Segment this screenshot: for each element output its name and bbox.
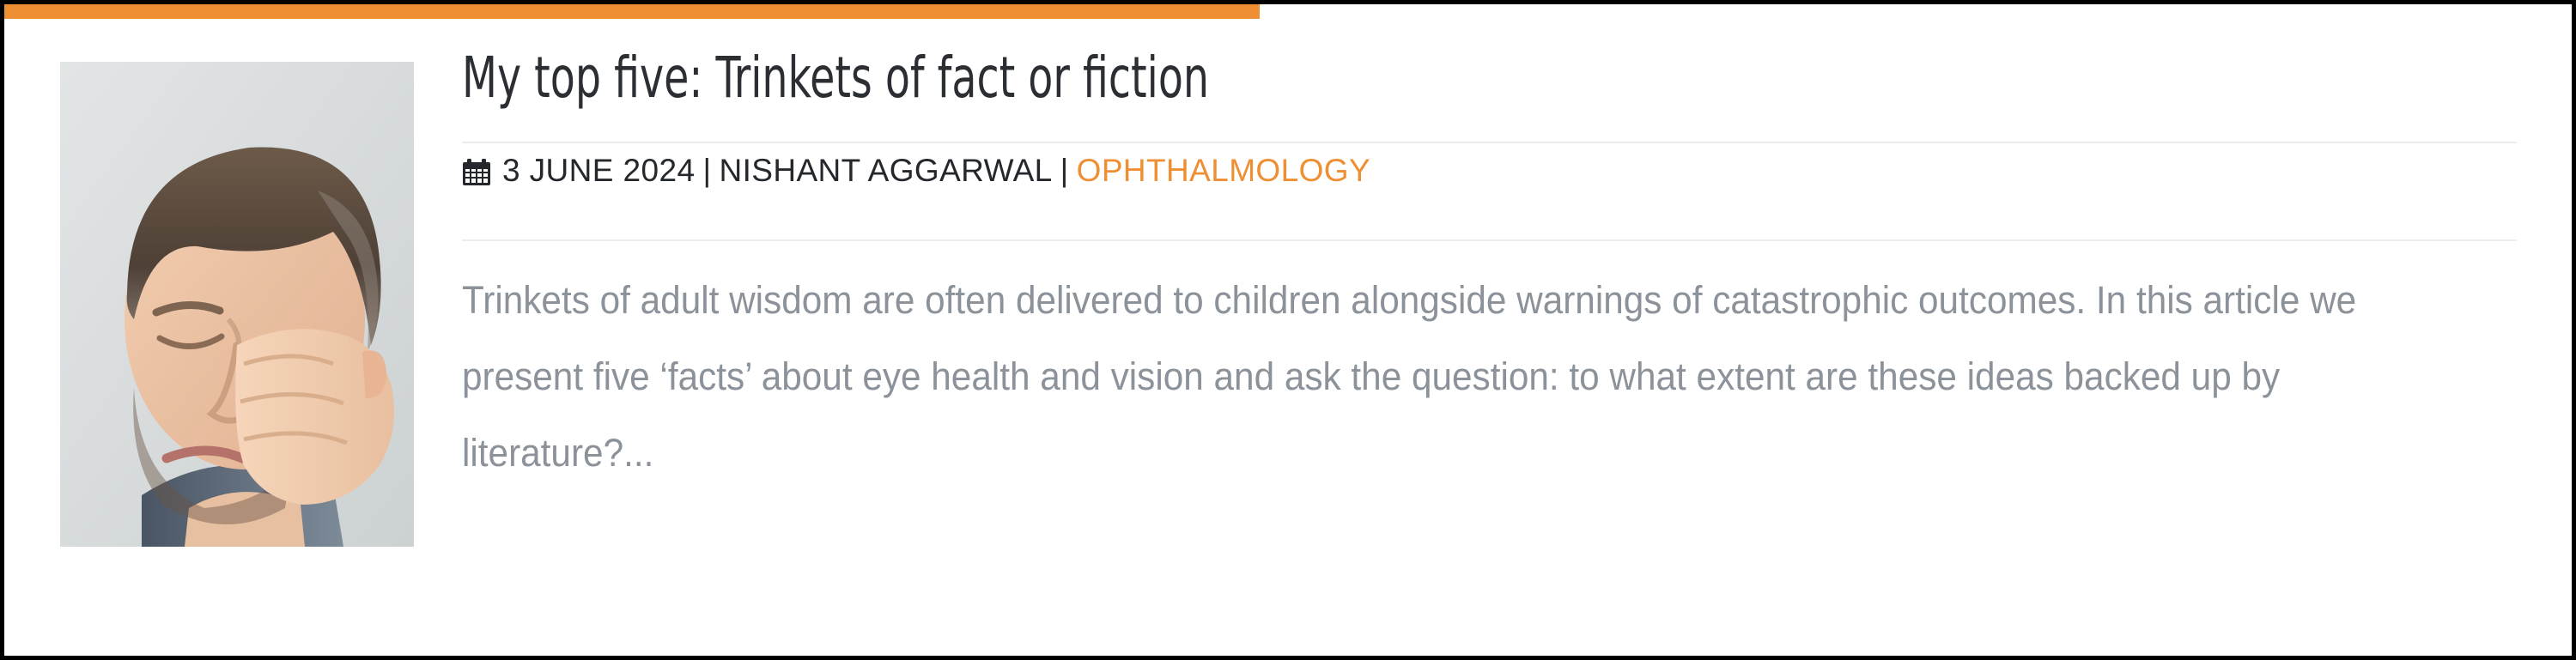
article-card-frame: My top five: Trinkets of fact or fiction <box>0 0 2576 660</box>
article-author: NISHANT AGGARWAL <box>719 153 1052 189</box>
article-category-link[interactable]: OPHTHALMOLOGY <box>1077 153 1370 189</box>
article-date: 3 JUNE 2024 <box>502 153 695 189</box>
article-title-link[interactable]: My top five: Trinkets of fact or fiction <box>462 45 2105 112</box>
article-meta: 3 JUNE 2024 | NISHANT AGGARWAL | OPHTHAL… <box>462 143 2517 198</box>
article-text-block: My top five: Trinkets of fact or fiction <box>462 45 2517 491</box>
article-listing-item[interactable]: My top five: Trinkets of fact or fiction <box>4 19 2572 656</box>
accent-bar <box>4 4 1260 19</box>
calendar-icon <box>462 159 491 186</box>
meta-separator-1: | <box>695 153 719 189</box>
article-thumbnail[interactable] <box>60 62 414 547</box>
article-excerpt: Trinkets of adult wisdom are often deliv… <box>462 241 2399 491</box>
meta-separator-2: | <box>1053 153 1077 189</box>
